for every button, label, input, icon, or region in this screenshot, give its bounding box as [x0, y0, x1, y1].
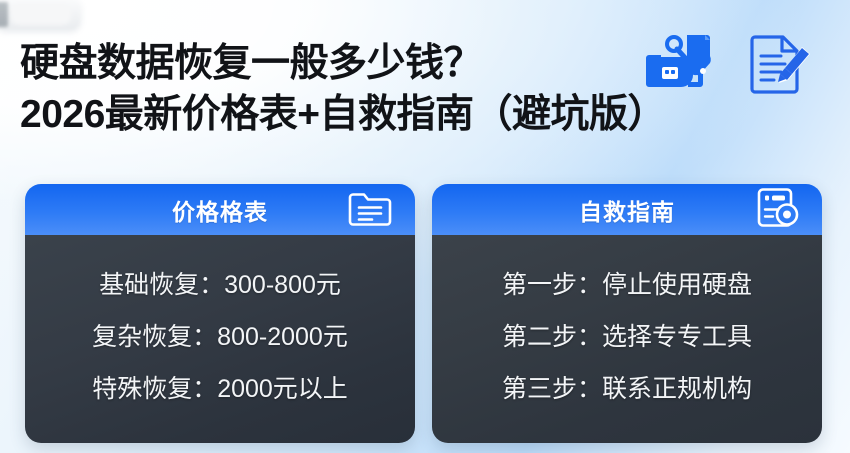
- headline-line-2: 2026最新价格表+自救指南（避坑版）: [20, 89, 660, 140]
- widget-fill: [11, 3, 71, 25]
- card-title-self-rescue-guide: 自救指南: [579, 193, 675, 227]
- list-item: 复杂恢复：800-2000元: [92, 322, 348, 352]
- card-header-self-rescue-guide: 自救指南: [432, 184, 822, 235]
- widget-left-bar: [0, 2, 8, 27]
- card-body-self-rescue-guide: 第一步：停止使用硬盘 第二步：选择专专工具 第三步：联系正规机构: [432, 235, 822, 443]
- card-self-rescue-guide[interactable]: 自救指南 第一步：停止使用硬盘: [432, 184, 822, 443]
- list-item: 第一步：停止使用硬盘: [502, 270, 752, 300]
- data-recovery-icon: [643, 33, 717, 100]
- list-item: 特殊恢复：2000元以上: [92, 374, 348, 404]
- list-item: 第三步：联系正规机构: [502, 374, 752, 404]
- card-title-price-table: 价格格表: [172, 193, 268, 227]
- card-group: 价格格表 基础恢复：300-800元 复杂恢复：800-2000元 特殊恢复: [0, 184, 850, 444]
- page-title: 硬盘数据恢复一般多少钱？ 2026最新价格表+自救指南（避坑版）: [20, 38, 660, 140]
- blurred-toolbar-widget[interactable]: [0, 0, 82, 32]
- headline-line-1: 硬盘数据恢复一般多少钱？: [20, 38, 660, 89]
- header-icon-group: [643, 33, 839, 105]
- folder-list-icon: [347, 188, 393, 231]
- hard-drive-icon: [756, 186, 800, 233]
- card-header-price-table: 价格格表: [25, 184, 415, 235]
- document-edit-icon: [744, 35, 816, 102]
- card-price-table[interactable]: 价格格表 基础恢复：300-800元 复杂恢复：800-2000元 特殊恢复: [25, 184, 415, 443]
- list-item: 第二步：选择专专工具: [502, 322, 752, 352]
- list-item: 基础恢复：300-800元: [99, 270, 341, 300]
- card-body-price-table: 基础恢复：300-800元 复杂恢复：800-2000元 特殊恢复：2000元以…: [25, 235, 415, 443]
- poster-canvas: 硬盘数据恢复一般多少钱？ 2026最新价格表+自救指南（避坑版）: [0, 0, 850, 453]
